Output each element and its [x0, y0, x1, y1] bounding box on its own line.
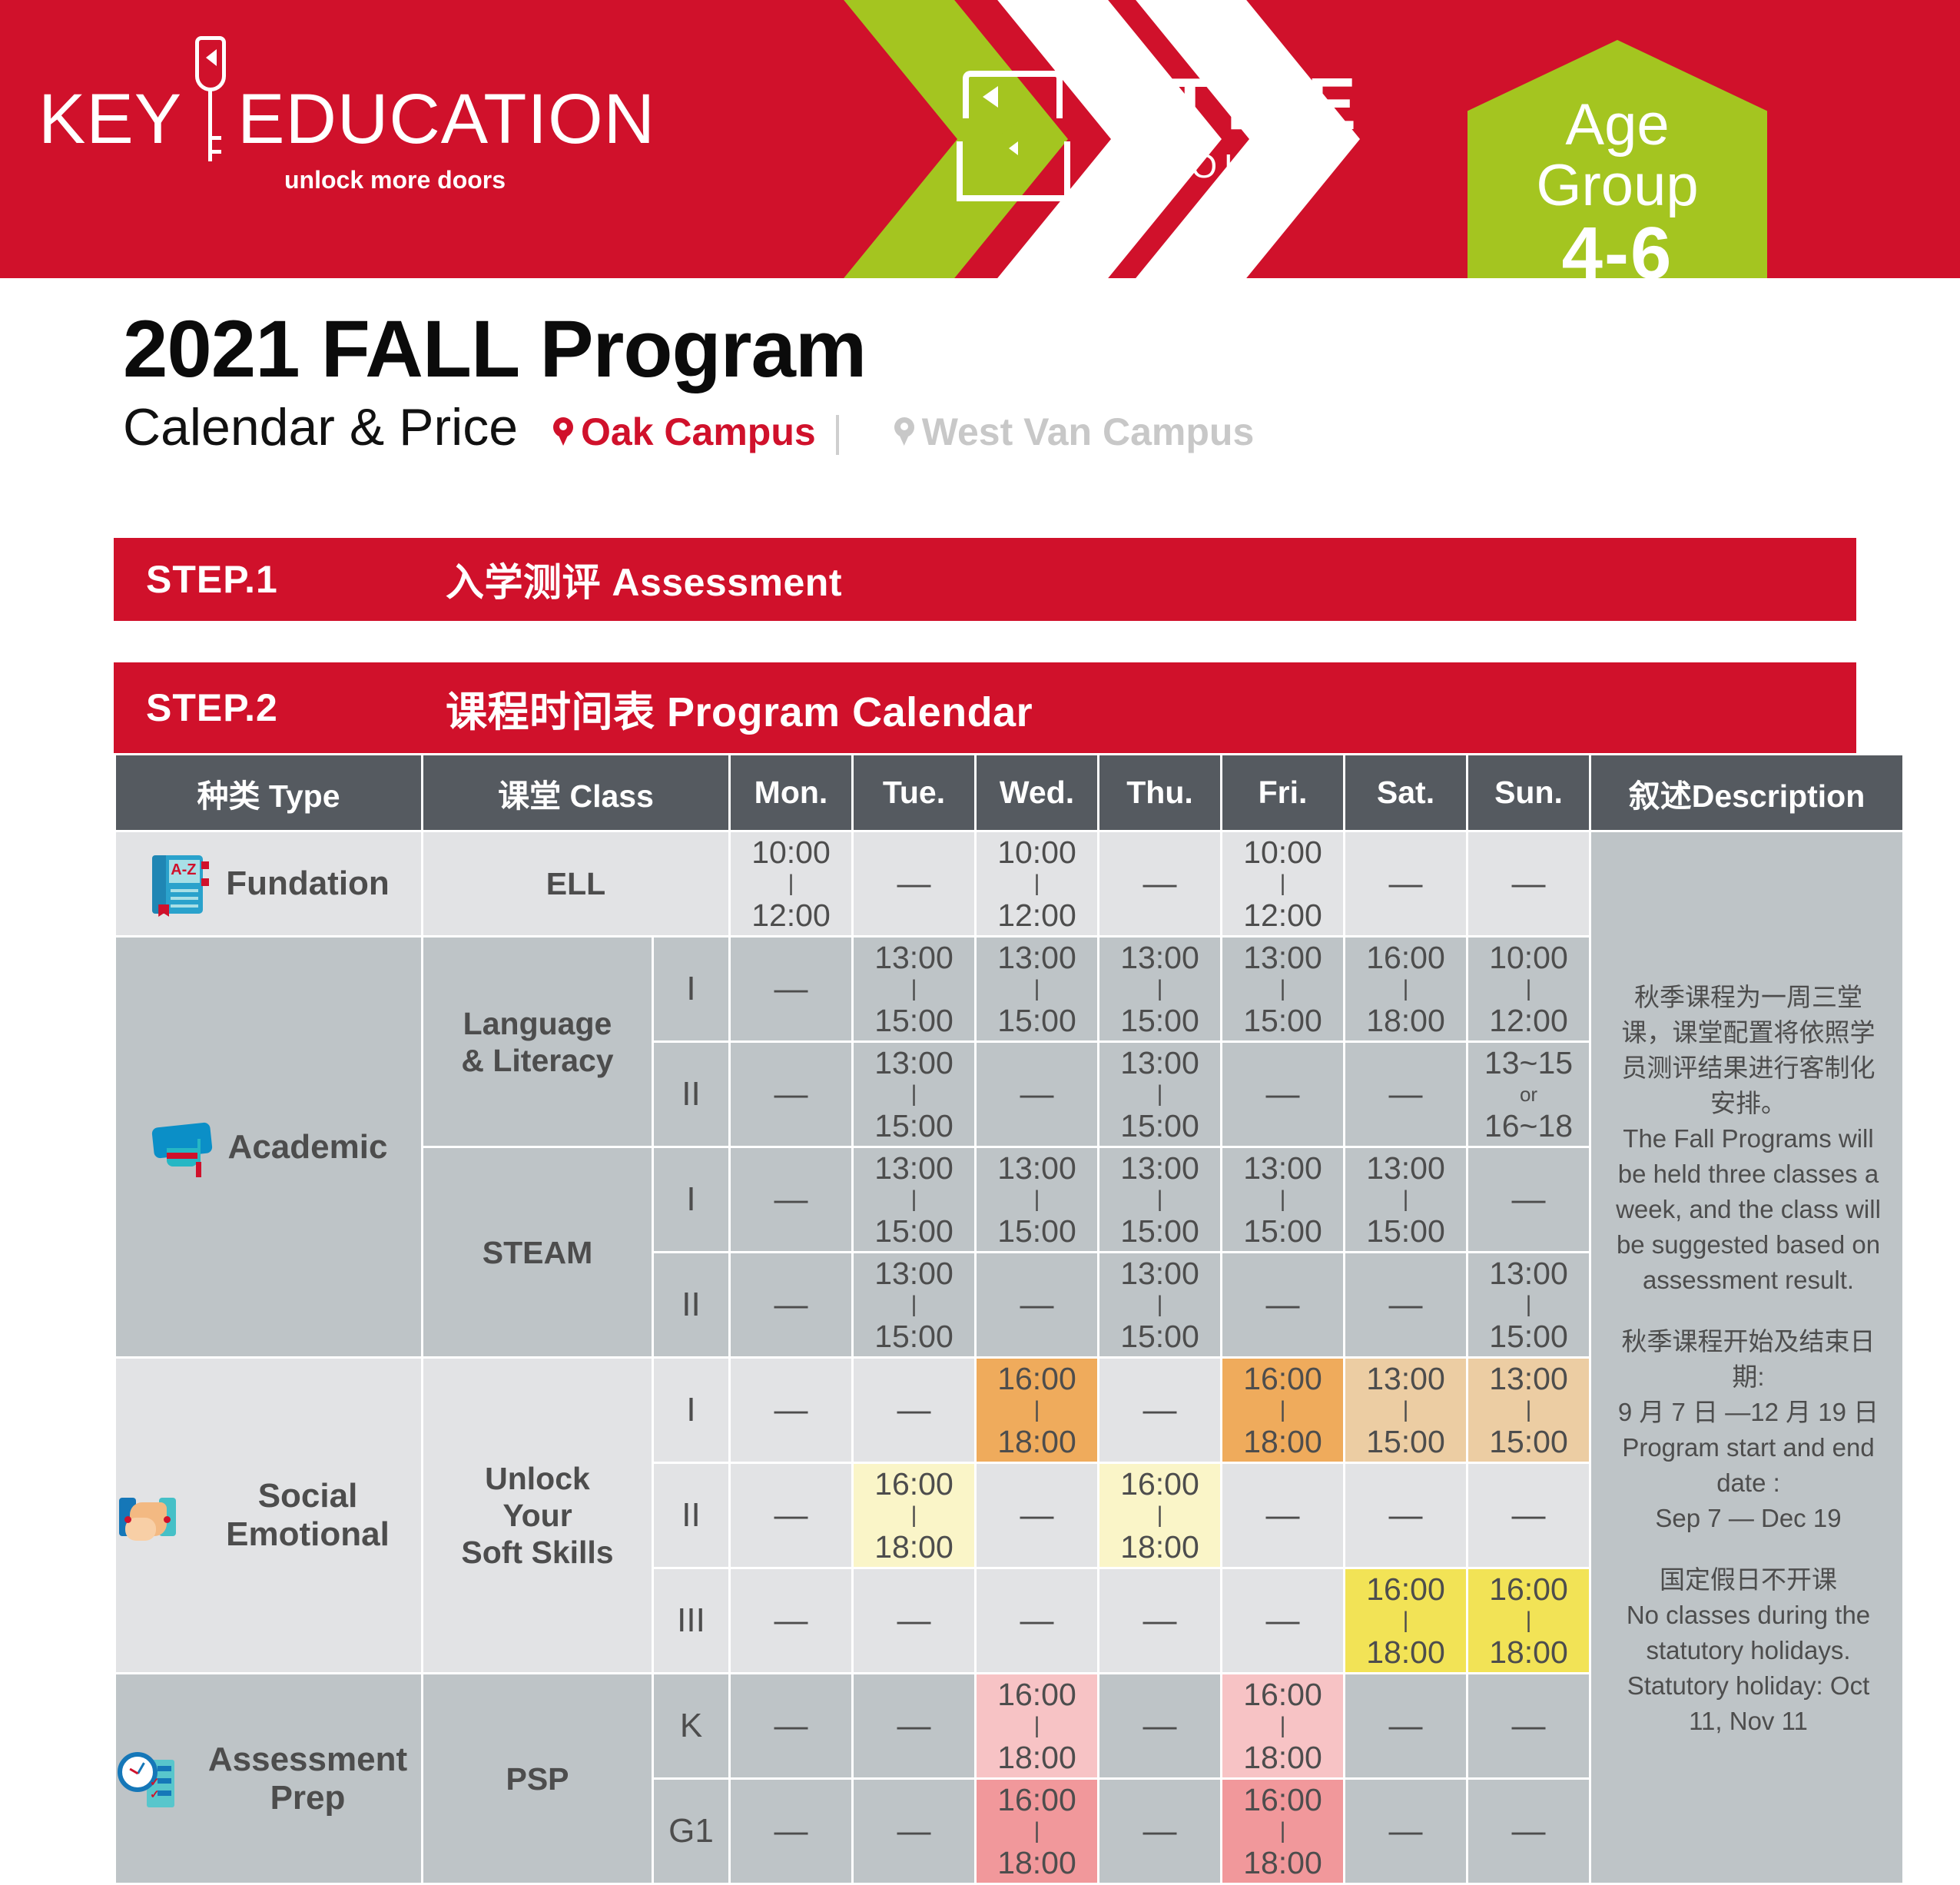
col-header-wed: Wed. [976, 755, 1099, 831]
campus-divider [836, 415, 839, 455]
program-calendar-table: 种类 Type 课堂 Class Mon. Tue. Wed. Thu. Fri… [114, 753, 1905, 1885]
row-level-cell: I [653, 937, 730, 1042]
col-header-sat: Sat. [1345, 755, 1468, 831]
graduation-cap-icon [150, 1114, 214, 1180]
schedule-cell-wed: — [976, 1042, 1099, 1147]
row-level-cell: I [653, 1358, 730, 1463]
schedule-cell-sun: — [1468, 1463, 1590, 1568]
little-scholars-word-1: LITTLE [1099, 68, 1358, 141]
row-class-cell: ELL [423, 831, 730, 937]
description-cell: 秋季课程为一周三堂课，课堂配置将依照学员测评结果进行客制化安排。The Fall… [1590, 831, 1904, 1884]
little-scholars-logo: LITTLE SCHOLARS [1099, 68, 1358, 186]
schedule-cell-sat: — [1345, 1463, 1468, 1568]
schedule-cell-sun: 13:00|15:00 [1468, 1253, 1590, 1358]
schedule-cell-tue: — [853, 1568, 976, 1674]
age-group-badge: Age Group 4-6 [1468, 40, 1767, 278]
schedule-cell-thu: 13:00|15:00 [1099, 1042, 1222, 1147]
row-type-label: Fundation [226, 865, 390, 903]
schedule-cell-thu: 13:00|15:00 [1099, 937, 1222, 1042]
col-header-class: 课堂 Class [423, 755, 730, 831]
schedule-cell-fri: — [1222, 1463, 1345, 1568]
schedule-cell-mon: — [730, 1674, 853, 1779]
schedule-cell-tue: — [853, 1358, 976, 1463]
table-row: A-ZFundationELL10:00|12:00—10:00|12:00—1… [115, 831, 1904, 937]
schedule-cell-fri: 16:00|18:00 [1222, 1779, 1345, 1884]
schedule-cell-sun: 13~15or16~18 [1468, 1042, 1590, 1147]
campus-westvan-label: West Van Campus [922, 409, 1255, 455]
step-2-bar: STEP.2 课程时间表 Program Calendar [114, 662, 1856, 753]
schedule-cell-thu: — [1099, 1674, 1222, 1779]
row-class-cell: UnlockYourSoft Skills [423, 1358, 653, 1674]
schedule-cell-thu: — [1099, 1568, 1222, 1674]
schedule-cell-thu: — [1099, 831, 1222, 937]
row-level-cell: K [653, 1674, 730, 1779]
schedule-cell-tue: 13:00|15:00 [853, 937, 976, 1042]
row-type-label: Assessment Prep [194, 1741, 421, 1817]
schedule-cell-fri: — [1222, 1253, 1345, 1358]
step-2-title: 课程时间表 Program Calendar [446, 678, 1033, 738]
col-header-tue: Tue. [853, 755, 976, 831]
schedule-cell-mon: 10:00|12:00 [730, 831, 853, 937]
description-paragraph-2: 秋季课程开始及结束日期:9 月 7 日 —12 月 19 日Program st… [1611, 1324, 1885, 1536]
col-header-mon: Mon. [730, 755, 853, 831]
row-level-cell: I [653, 1147, 730, 1253]
schedule-cell-tue: 13:00|15:00 [853, 1253, 976, 1358]
schedule-cell-fri: 16:00|18:00 [1222, 1358, 1345, 1463]
header-banner: KEY EDUCATION unlock more doors LITTLE S… [0, 0, 1960, 278]
schedule-cell-sat: — [1345, 1042, 1468, 1147]
schedule-cell-wed: — [976, 1463, 1099, 1568]
schedule-cell-sun: — [1468, 1147, 1590, 1253]
key-logo-word-2: EDUCATION [237, 81, 655, 158]
schedule-cell-wed: 13:00|15:00 [976, 1147, 1099, 1253]
schedule-cell-tue: — [853, 1779, 976, 1884]
schedule-cell-sat: — [1345, 1253, 1468, 1358]
little-scholars-icon [957, 71, 1079, 201]
col-header-sun: Sun. [1468, 755, 1590, 831]
row-type-cell: Social Emotional [115, 1358, 423, 1674]
step-1-bar: STEP.1 入学测评 Assessment [114, 538, 1856, 621]
step-2-label: STEP.2 [146, 685, 446, 730]
row-class-cell: Language& Literacy [423, 937, 653, 1147]
schedule-cell-sun: 13:00|15:00 [1468, 1358, 1590, 1463]
key-icon [193, 36, 228, 171]
schedule-cell-wed: — [976, 1253, 1099, 1358]
step-1-label: STEP.1 [146, 557, 446, 602]
schedule-cell-sat: 13:00|15:00 [1345, 1358, 1468, 1463]
row-type-cell: A-ZFundation [115, 831, 423, 937]
schedule-cell-wed: 16:00|18:00 [976, 1674, 1099, 1779]
key-logo-word-1: KEY [38, 81, 182, 158]
schedule-cell-mon: — [730, 1253, 853, 1358]
schedule-cell-mon: — [730, 1042, 853, 1147]
col-header-thu: Thu. [1099, 755, 1222, 831]
schedule-cell-tue: 13:00|15:00 [853, 1042, 976, 1147]
col-header-type: 种类 Type [115, 755, 423, 831]
description-paragraph-1: 秋季课程为一周三堂课，课堂配置将依照学员测评结果进行客制化安排。The Fall… [1611, 980, 1885, 1298]
schedule-cell-sun: — [1468, 1779, 1590, 1884]
schedule-cell-fri: 13:00|15:00 [1222, 937, 1345, 1042]
schedule-cell-mon: — [730, 1568, 853, 1674]
schedule-cell-sat: 16:00|18:00 [1345, 937, 1468, 1042]
schedule-cell-thu: 13:00|15:00 [1099, 1147, 1222, 1253]
row-type-label: Academic [228, 1128, 388, 1167]
key-education-logo: KEY EDUCATION [38, 81, 655, 171]
location-pin-icon-red [553, 417, 573, 446]
schedule-cell-fri: — [1222, 1568, 1345, 1674]
schedule-cell-mon: — [730, 1463, 853, 1568]
clock-checklist-icon: ✓✓ [116, 1746, 181, 1812]
row-class-cell: PSP [423, 1674, 653, 1884]
row-class-cell: STEAM [423, 1147, 653, 1358]
schedule-cell-tue: 16:00|18:00 [853, 1463, 976, 1568]
schedule-cell-mon: — [730, 937, 853, 1042]
col-header-fri: Fri. [1222, 755, 1345, 831]
schedule-cell-sun: 10:00|12:00 [1468, 937, 1590, 1042]
schedule-cell-thu: 16:00|18:00 [1099, 1463, 1222, 1568]
handshake-icon [116, 1482, 181, 1548]
age-badge-line1: Age [1468, 95, 1767, 155]
age-badge-range: 4-6 [1468, 217, 1767, 278]
schedule-cell-tue: — [853, 831, 976, 937]
schedule-cell-fri: 13:00|15:00 [1222, 1147, 1345, 1253]
schedule-cell-sun: — [1468, 831, 1590, 937]
campus-westvan[interactable]: West Van Campus [894, 409, 1255, 455]
schedule-cell-thu: — [1099, 1358, 1222, 1463]
schedule-cell-sun: 16:00|18:00 [1468, 1568, 1590, 1674]
schedule-cell-thu: — [1099, 1779, 1222, 1884]
col-header-description: 叙述Description [1590, 755, 1904, 831]
campus-oak-label: Oak Campus [581, 409, 816, 455]
schedule-cell-tue: — [853, 1674, 976, 1779]
page-title: 2021 FALL Program [123, 307, 1254, 392]
row-type-cell: ✓✓Assessment Prep [115, 1674, 423, 1884]
schedule-cell-sat: — [1345, 1779, 1468, 1884]
row-type-label: Social Emotional [194, 1477, 421, 1554]
schedule-cell-wed: 13:00|15:00 [976, 937, 1099, 1042]
page-subtitle: Calendar & Price [123, 400, 518, 455]
schedule-cell-mon: — [730, 1358, 853, 1463]
schedule-cell-mon: — [730, 1779, 853, 1884]
description-paragraph-3: 国定假日不开课No classes during the statutory h… [1611, 1562, 1885, 1739]
little-scholars-word-2: SCHOLARS [1099, 148, 1358, 186]
key-logo-tagline: unlock more doors [284, 166, 506, 194]
schedule-cell-sat: — [1345, 1674, 1468, 1779]
schedule-cell-wed: 16:00|18:00 [976, 1779, 1099, 1884]
schedule-cell-sun: — [1468, 1674, 1590, 1779]
schedule-cell-wed: — [976, 1568, 1099, 1674]
table-body: A-ZFundationELL10:00|12:00—10:00|12:00—1… [115, 831, 1904, 1884]
page-title-block: 2021 FALL Program Calendar & Price Oak C… [123, 307, 1254, 455]
schedule-cell-thu: 13:00|15:00 [1099, 1253, 1222, 1358]
schedule-cell-wed: 16:00|18:00 [976, 1358, 1099, 1463]
schedule-cell-fri: — [1222, 1042, 1345, 1147]
schedule-cell-tue: 13:00|15:00 [853, 1147, 976, 1253]
schedule-cell-sat: — [1345, 831, 1468, 937]
row-type-cell: Academic [115, 937, 423, 1358]
age-badge-line2: Group [1468, 155, 1767, 217]
table-header-row: 种类 Type 课堂 Class Mon. Tue. Wed. Thu. Fri… [115, 755, 1904, 831]
schedule-cell-wed: 10:00|12:00 [976, 831, 1099, 937]
schedule-cell-fri: 16:00|18:00 [1222, 1674, 1345, 1779]
schedule-cell-sat: 13:00|15:00 [1345, 1147, 1468, 1253]
step-1-title: 入学测评 Assessment [446, 552, 842, 607]
schedule-cell-sat: 16:00|18:00 [1345, 1568, 1468, 1674]
row-level-cell: III [653, 1568, 730, 1674]
row-level-cell: II [653, 1253, 730, 1358]
schedule-cell-mon: — [730, 1147, 853, 1253]
row-level-cell: G1 [653, 1779, 730, 1884]
row-level-cell: II [653, 1042, 730, 1147]
schedule-cell-fri: 10:00|12:00 [1222, 831, 1345, 937]
book-az-icon: A-Z [148, 851, 212, 917]
campus-oak[interactable]: Oak Campus [553, 409, 816, 455]
location-pin-icon-grey [894, 417, 914, 446]
row-level-cell: II [653, 1463, 730, 1568]
